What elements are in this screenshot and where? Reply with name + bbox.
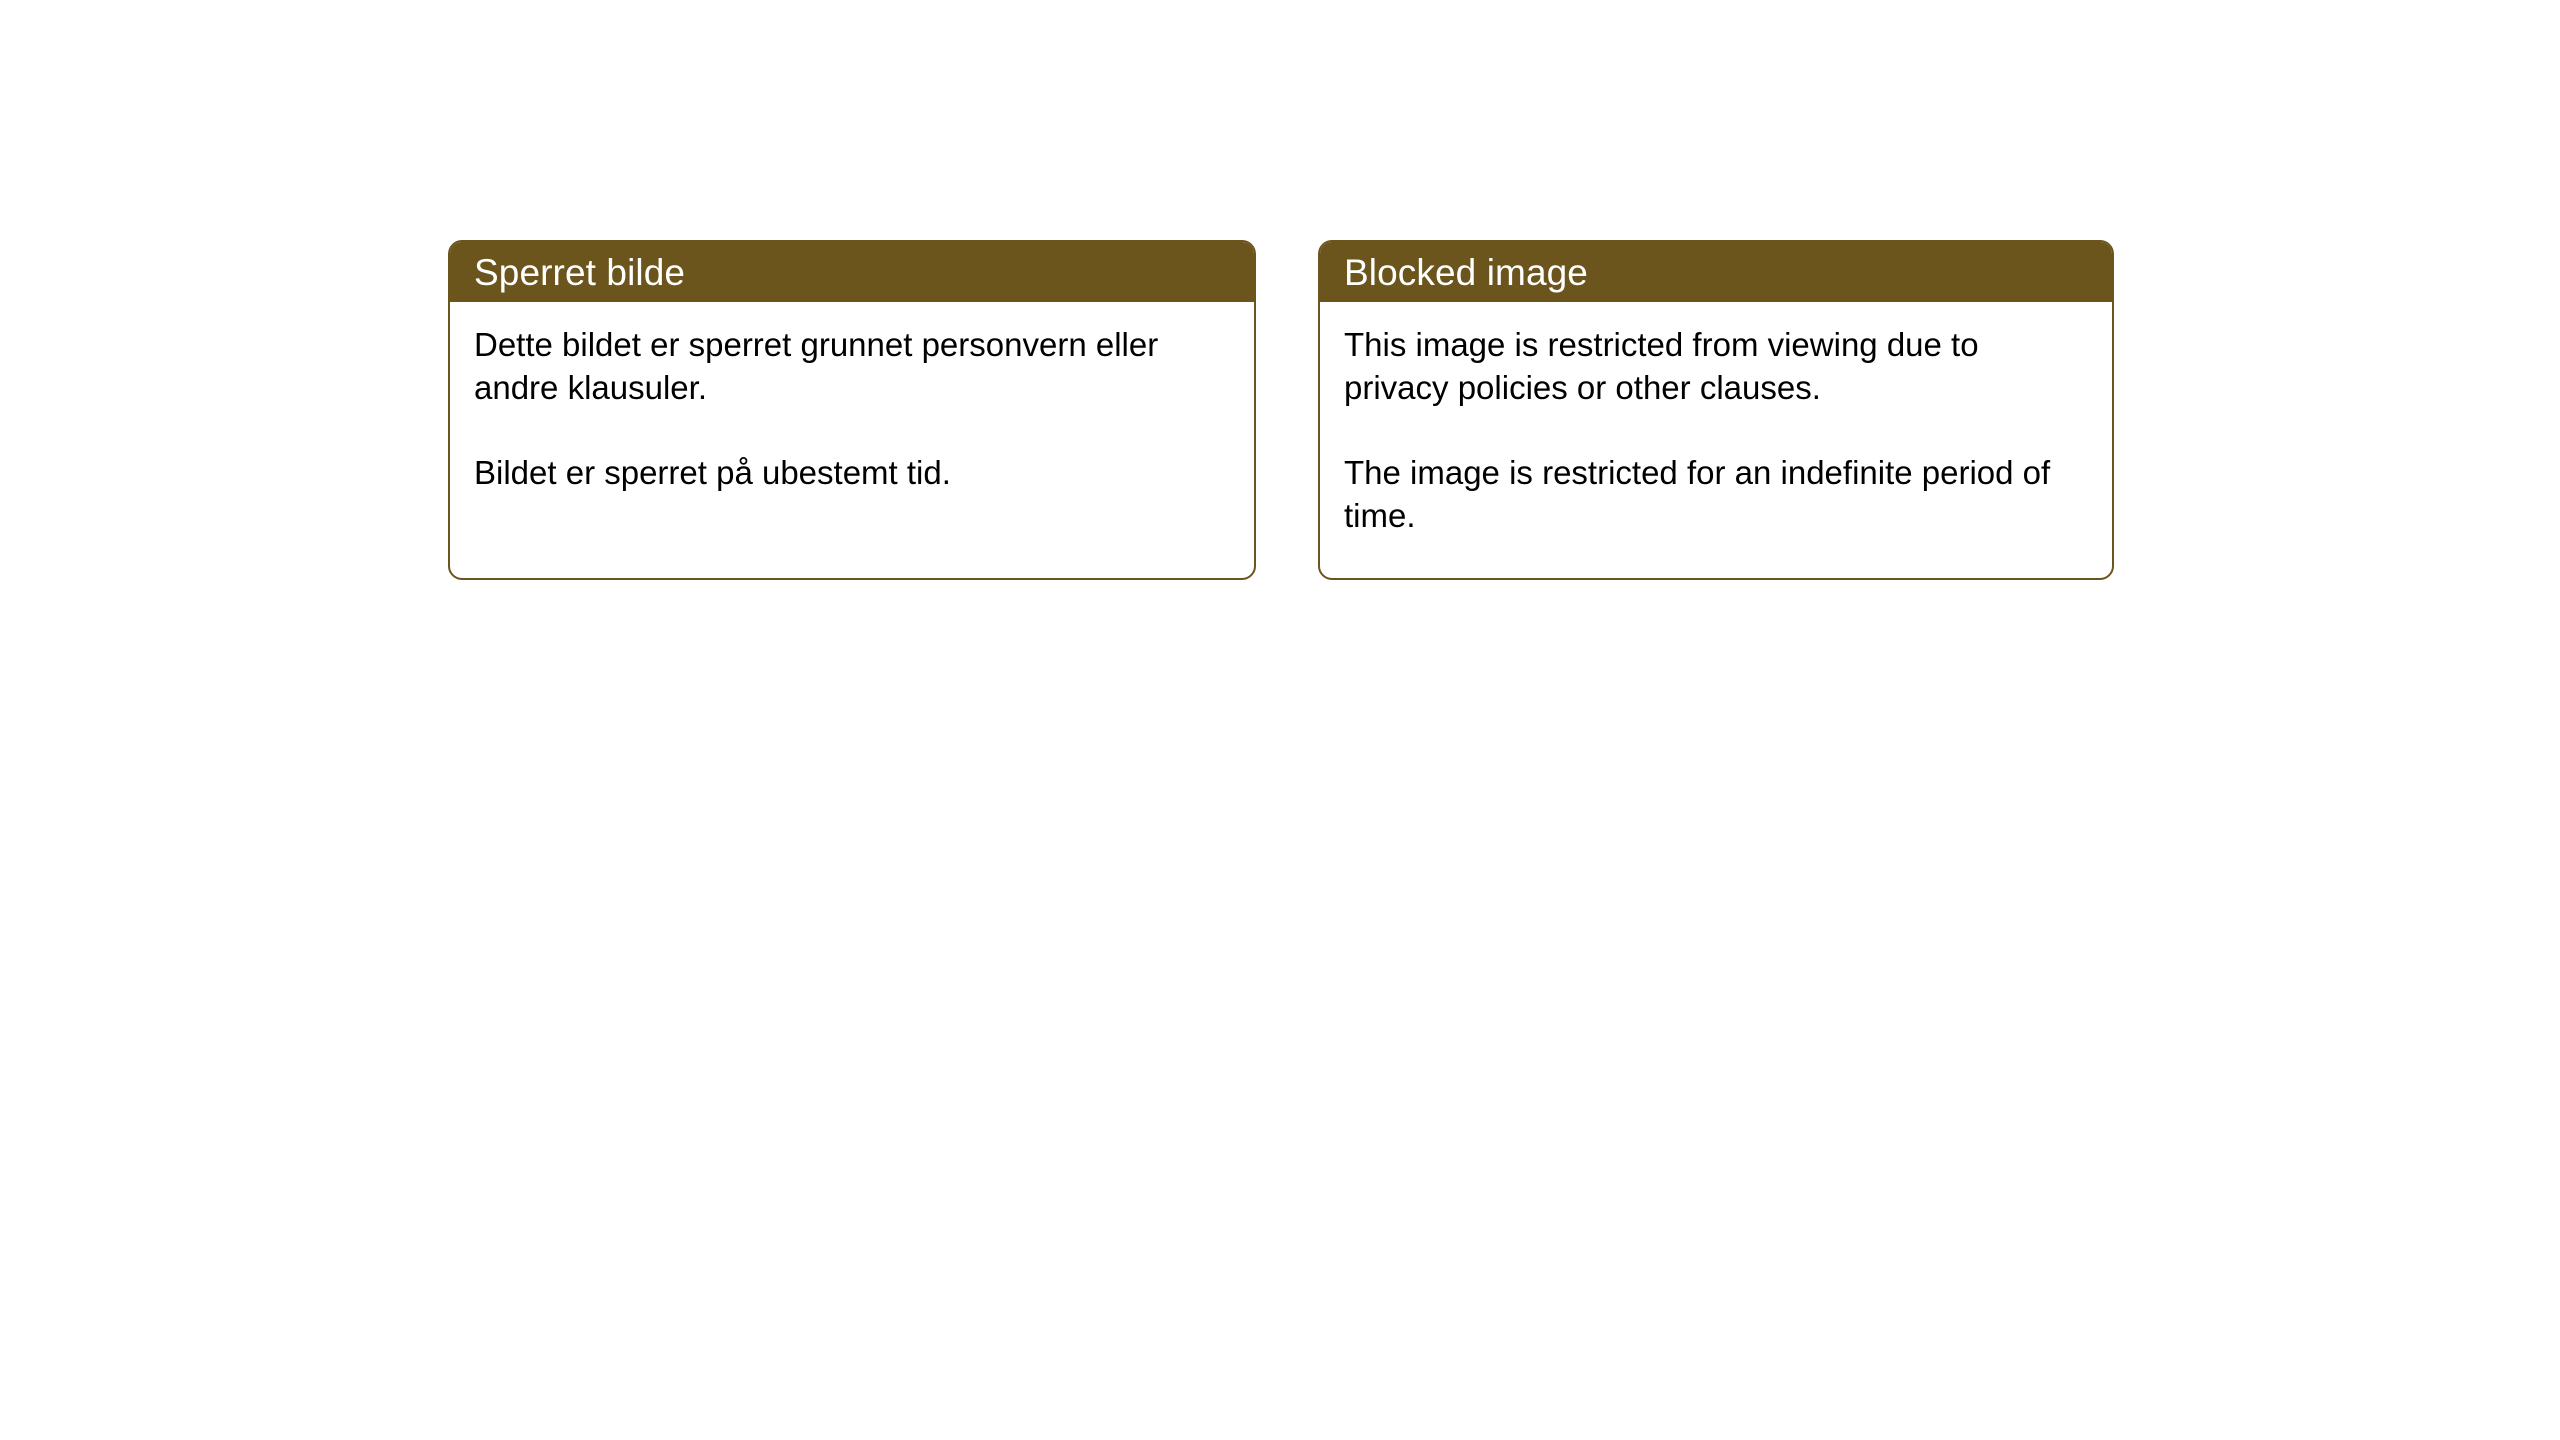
paragraph-spacer-english <box>1344 410 2086 452</box>
card-title-norwegian: Sperret bilde <box>474 254 685 291</box>
card-body-norwegian: Dette bildet er sperret grunnet personve… <box>450 302 1254 578</box>
card-paragraph-primary-norwegian: Dette bildet er sperret grunnet personve… <box>474 324 1228 410</box>
card-title-english: Blocked image <box>1344 254 1588 291</box>
card-paragraph-secondary-norwegian: Bildet er sperret på ubestemt tid. <box>474 452 1228 495</box>
card-paragraph-primary-english: This image is restricted from viewing du… <box>1344 324 2086 410</box>
paragraph-spacer-norwegian <box>474 410 1228 452</box>
page-canvas: Sperret bilde Dette bildet er sperret gr… <box>0 0 2560 1440</box>
card-header-norwegian: Sperret bilde <box>450 242 1254 302</box>
blocked-image-notice-card-english: Blocked image This image is restricted f… <box>1318 240 2114 580</box>
blocked-image-notice-card-norwegian: Sperret bilde Dette bildet er sperret gr… <box>448 240 1256 580</box>
card-paragraph-secondary-english: The image is restricted for an indefinit… <box>1344 452 2086 538</box>
card-body-english: This image is restricted from viewing du… <box>1320 302 2112 578</box>
card-header-english: Blocked image <box>1320 242 2112 302</box>
